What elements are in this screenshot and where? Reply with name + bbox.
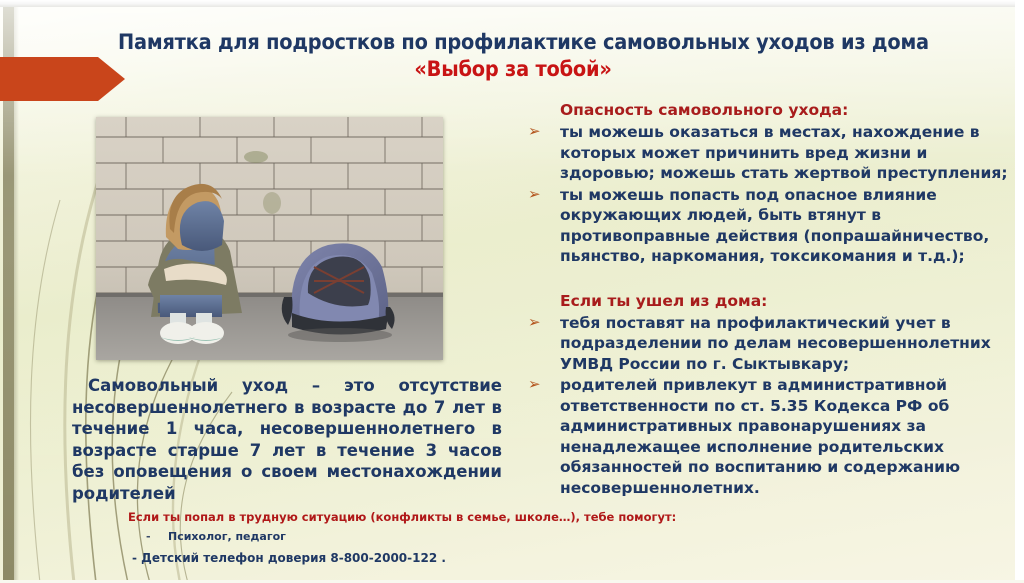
list-item: ➢ ты можешь оказаться в местах, нахожден… [524,122,1014,184]
bullet-list-left-home: ➢ тебя поставят на профилактический учет… [524,313,1014,499]
arrow-bullet-icon: ➢ [528,184,541,205]
footer-heading: Если ты попал в трудную ситуацию (конфли… [128,510,748,525]
list-item: ➢ родителей привлекут в административной… [524,375,1014,498]
slide-edge-right [1015,0,1024,583]
orange-arrow-banner [0,57,125,101]
section-heading-danger: Опасность самовольного ухода: [560,100,1014,120]
arrow-bullet-icon: ➢ [528,312,541,333]
list-item-text: ты можешь оказаться в местах, нахождение… [560,122,1014,184]
slide-edge-top [0,0,1024,7]
footer-item-psychologist: -Психолог, педагог [128,529,748,544]
slide-root: Памятка для подростков по профилактике с… [0,0,1024,583]
list-item: ➢ тебя поставят на профилактический учет… [524,313,1014,375]
footer-item-label: Психолог, педагог [168,530,286,543]
right-content-column: Опасность самовольного ухода: ➢ ты можеш… [524,100,1014,499]
photo-teen-with-backpack [96,117,443,360]
section-heading-left-home: Если ты ушел из дома: [560,291,1014,311]
dash-bullet-icon: - [146,529,168,544]
footer-block: Если ты попал в трудную ситуацию (конфли… [128,510,748,566]
list-item-text: родителей привлекут в административной о… [560,375,1014,498]
page-title: Памятка для подростков по профилактике с… [118,30,908,55]
list-item: ➢ ты можешь попасть под опасное влияние … [524,185,1014,267]
arrow-bullet-icon: ➢ [528,374,541,395]
list-item-text: ты можешь попасть под опасное влияние ок… [560,185,1014,267]
arrow-bullet-icon: ➢ [528,121,541,142]
definition-paragraph: Самовольный уход – это отсутствие несове… [72,375,502,504]
bullet-list-danger: ➢ ты можешь оказаться в местах, нахожден… [524,122,1014,267]
title-block: Памятка для подростков по профилактике с… [118,30,908,82]
footer-item-helpline: - Детский телефон доверия 8-800-2000-122… [128,551,748,566]
list-item-text: тебя поставят на профилактический учет в… [560,313,1014,375]
page-subtitle: «Выбор за тобой» [118,57,908,82]
